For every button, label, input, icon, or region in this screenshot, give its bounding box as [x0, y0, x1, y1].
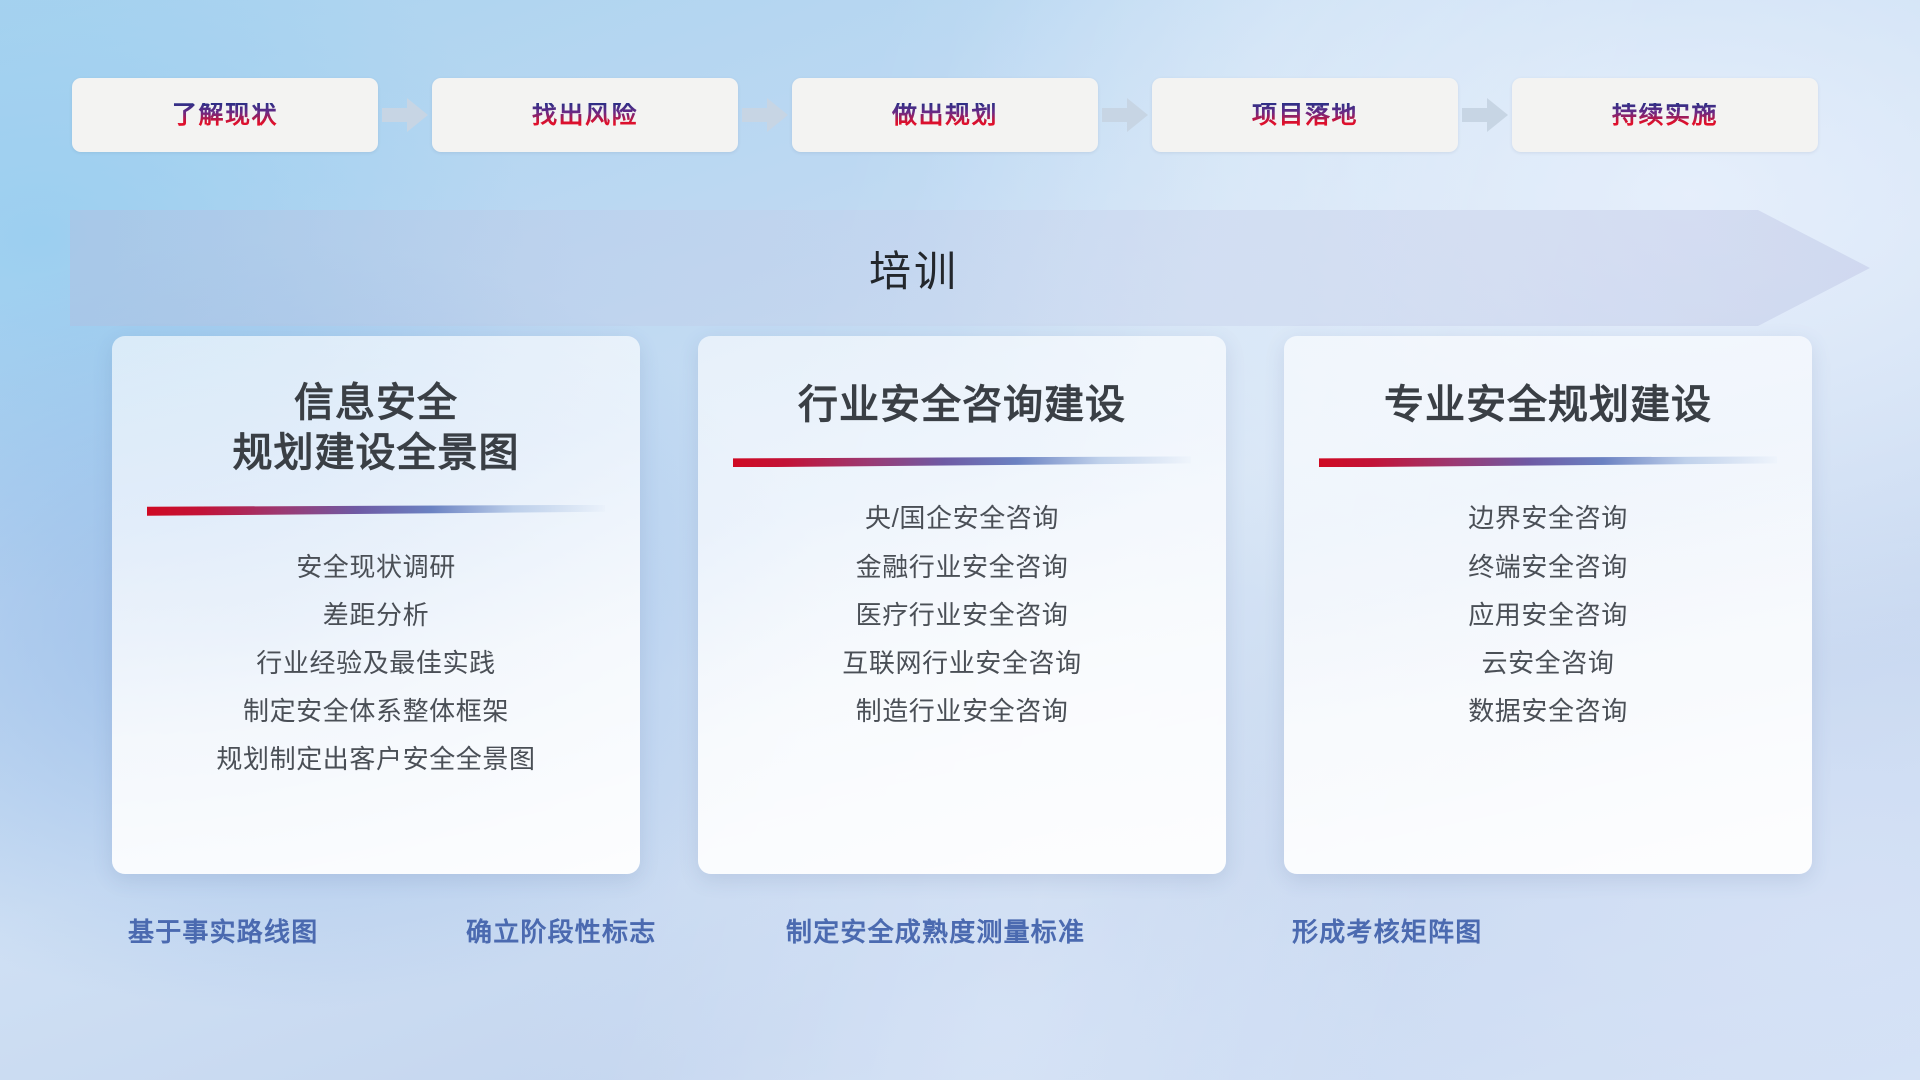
step-label-5: 持续实施 — [1612, 103, 1718, 128]
footer-label-4: 形成考核矩阵图 — [1292, 912, 1482, 949]
process-step-row: 了解现状 找出风险 做出规划 项目落地 持续实施 — [72, 78, 1862, 152]
card-divider-1 — [147, 505, 605, 516]
step-label-3: 做出规划 — [892, 103, 998, 128]
card-title-2-line1: 行业安全咨询建设 — [798, 380, 1126, 430]
list-item: 制定安全体系整体框架 — [243, 690, 509, 732]
list-item: 应用安全咨询 — [1468, 594, 1628, 636]
card-divider-bar-1 — [147, 505, 605, 516]
card-divider-bar-2 — [733, 456, 1191, 467]
step-box-3[interactable]: 做出规划 — [792, 78, 1098, 152]
footer-label-row: 基于事实路线图 确立阶段性标志 制定安全成熟度测量标准 形成考核矩阵图 — [0, 912, 1920, 968]
banner-title: 培训 — [70, 210, 1870, 326]
card-industry-security-consulting[interactable]: 行业安全咨询建设 央/国企安全咨询 金融行业安全咨询 医疗行业安全咨询 互联网行… — [698, 336, 1226, 874]
list-item: 安全现状调研 — [296, 546, 456, 588]
list-item: 制造行业安全咨询 — [856, 690, 1069, 732]
list-item: 医疗行业安全咨询 — [856, 594, 1069, 636]
training-banner: 培训 — [70, 210, 1870, 326]
step-label-4: 项目落地 — [1252, 103, 1358, 128]
step-box-2[interactable]: 找出风险 — [432, 78, 738, 152]
card-row: 信息安全 规划建设全景图 安全现状调研 差距分析 行业经验及最佳实践 制定安全体… — [112, 336, 1812, 874]
card-professional-security-planning[interactable]: 专业安全规划建设 边界安全咨询 终端安全咨询 应用安全咨询 云安全咨询 数据安全… — [1284, 336, 1812, 874]
step-box-1[interactable]: 了解现状 — [72, 78, 378, 152]
list-item: 终端安全咨询 — [1468, 546, 1628, 588]
card-list-2: 央/国企安全咨询 金融行业安全咨询 医疗行业安全咨询 互联网行业安全咨询 制造行… — [728, 497, 1196, 732]
footer-label-2: 确立阶段性标志 — [466, 912, 656, 949]
card-title-3: 专业安全规划建设 — [1384, 380, 1712, 430]
card-list-3: 边界安全咨询 终端安全咨询 应用安全咨询 云安全咨询 数据安全咨询 — [1314, 497, 1782, 732]
card-title-1: 信息安全 规划建设全景图 — [233, 378, 520, 479]
step-label-1: 了解现状 — [172, 103, 278, 128]
list-item: 金融行业安全咨询 — [856, 546, 1069, 588]
footer-label-1: 基于事实路线图 — [128, 912, 318, 949]
step-arrow-icon-2 — [738, 78, 792, 152]
list-item: 差距分析 — [323, 594, 429, 636]
step-box-4[interactable]: 项目落地 — [1152, 78, 1458, 152]
card-information-security-blueprint[interactable]: 信息安全 规划建设全景图 安全现状调研 差距分析 行业经验及最佳实践 制定安全体… — [112, 336, 640, 874]
step-label-2: 找出风险 — [532, 103, 638, 128]
footer-label-3: 制定安全成熟度测量标准 — [786, 912, 1085, 949]
card-title-1-line2: 规划建设全景图 — [233, 428, 520, 478]
list-item: 云安全咨询 — [1481, 642, 1614, 684]
list-item: 行业经验及最佳实践 — [256, 642, 495, 684]
card-divider-bar-3 — [1319, 456, 1777, 467]
card-title-2: 行业安全咨询建设 — [798, 380, 1126, 430]
list-item: 互联网行业安全咨询 — [842, 642, 1081, 684]
list-item: 边界安全咨询 — [1468, 497, 1628, 539]
step-arrow-icon-3 — [1098, 78, 1152, 152]
card-list-1: 安全现状调研 差距分析 行业经验及最佳实践 制定安全体系整体框架 规划制定出客户… — [142, 546, 610, 781]
list-item: 数据安全咨询 — [1468, 690, 1628, 732]
card-title-3-line1: 专业安全规划建设 — [1384, 380, 1712, 430]
step-arrow-icon-1 — [378, 78, 432, 152]
step-arrow-icon-4 — [1458, 78, 1512, 152]
card-divider-2 — [733, 456, 1191, 467]
card-divider-3 — [1319, 456, 1777, 467]
list-item: 规划制定出客户安全全景图 — [216, 738, 535, 780]
list-item: 央/国企安全咨询 — [865, 497, 1059, 539]
card-title-1-line1: 信息安全 — [233, 378, 520, 428]
step-box-5[interactable]: 持续实施 — [1512, 78, 1818, 152]
